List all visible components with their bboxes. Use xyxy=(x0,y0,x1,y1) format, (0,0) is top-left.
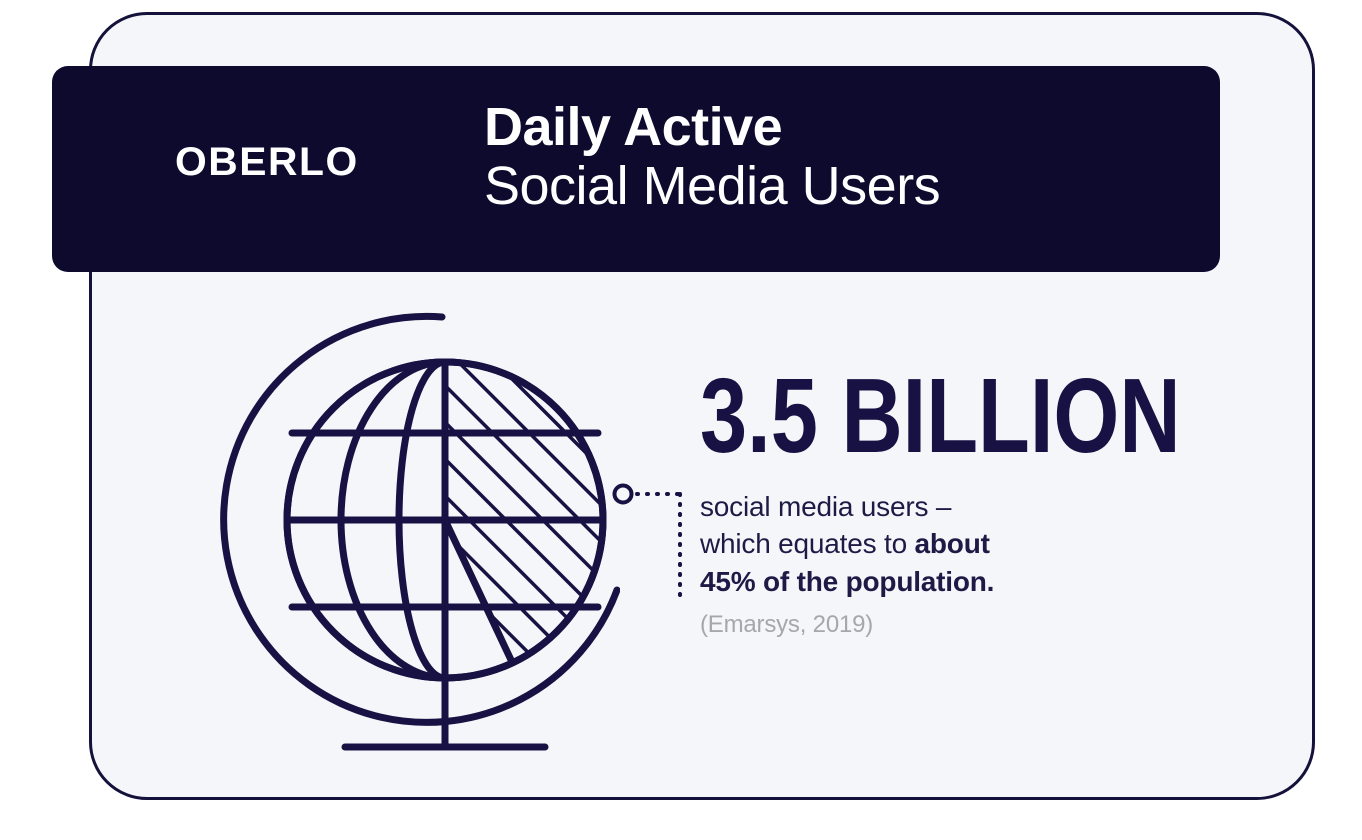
globe-illustration xyxy=(200,290,620,770)
stat-number: 3.5 BILLION xyxy=(700,368,1052,466)
stat-desc-line2: which equates to xyxy=(700,528,915,559)
header-bar: OBERLO Daily Active Social Media Users xyxy=(52,66,1220,272)
infographic-stage: OBERLO Daily Active Social Media Users 3… xyxy=(0,0,1362,840)
stat-desc-bold2: 45% of the population. xyxy=(700,566,994,597)
connector-line xyxy=(612,478,702,608)
connector-dot-icon xyxy=(615,486,632,503)
stat-description: social media users – which equates to ab… xyxy=(700,488,1140,601)
oberlo-logo: OBERLO xyxy=(175,142,359,182)
page-title: Daily Active Social Media Users xyxy=(484,100,940,214)
stat-desc-line1: social media users – xyxy=(700,491,951,522)
title-line-1: Daily Active xyxy=(484,100,940,155)
title-line-2: Social Media Users xyxy=(484,159,940,214)
stat-source: (Emarsys, 2019) xyxy=(700,611,1140,639)
stat-desc-bold1: about xyxy=(915,528,990,559)
statistic-block: 3.5 BILLION social media users – which e… xyxy=(700,368,1140,639)
